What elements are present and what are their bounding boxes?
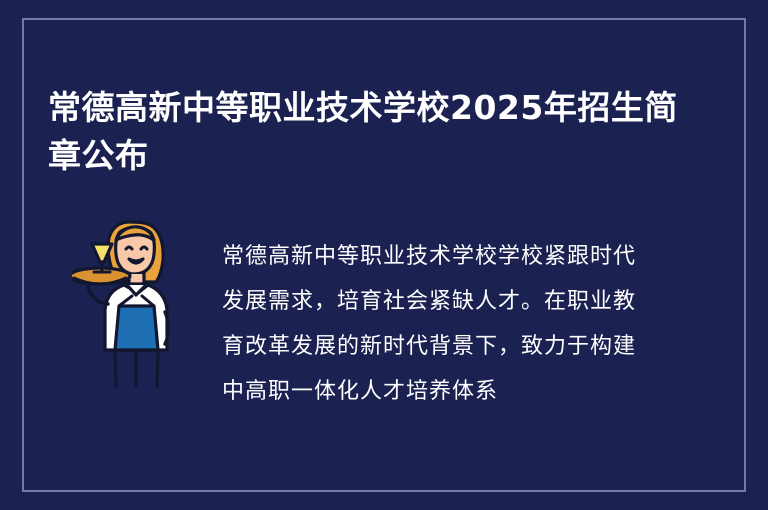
waiter-with-tray-illustration [72,200,202,390]
poster-container: 常德高新中等职业技术学校2025年招生简章公布 [0,0,768,510]
page-title: 常德高新中等职业技术学校2025年招生简章公布 [48,84,708,180]
body-text: 常德高新中等职业技术学校学校紧跟时代发展需求，培育社会紧缺人才。在职业教育改革发… [222,234,652,414]
